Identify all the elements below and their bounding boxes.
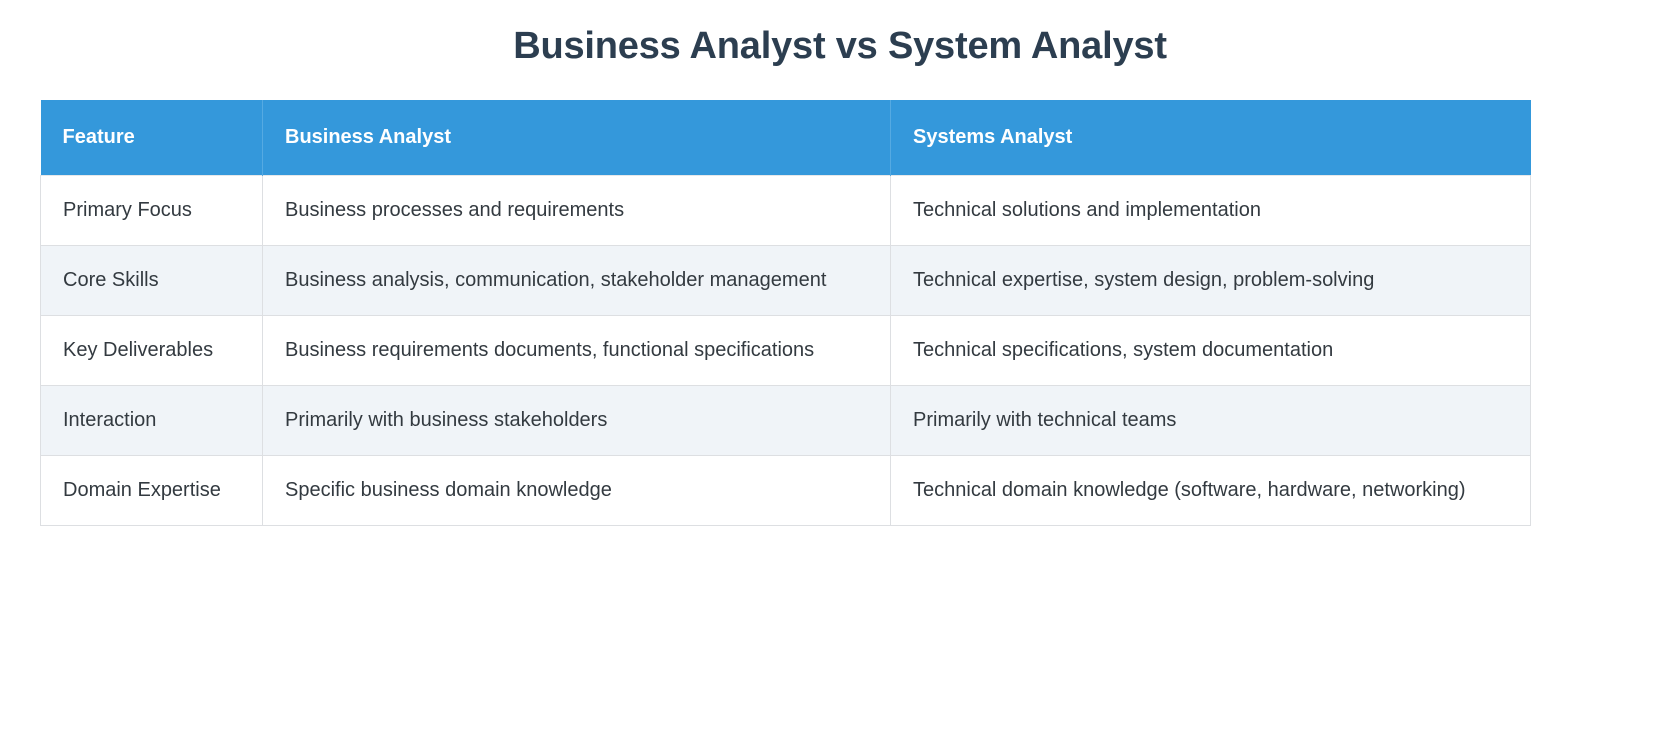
column-header-systems-analyst: Systems Analyst (891, 100, 1531, 176)
table-header-row: Feature Business Analyst Systems Analyst (41, 100, 1531, 176)
comparison-table-container: Feature Business Analyst Systems Analyst… (40, 100, 1530, 526)
cell-business-analyst: Primarily with business stakeholders (263, 386, 891, 456)
cell-feature: Primary Focus (41, 176, 263, 246)
table-row: Interaction Primarily with business stak… (41, 386, 1531, 456)
cell-feature: Domain Expertise (41, 456, 263, 526)
cell-feature: Core Skills (41, 246, 263, 316)
cell-business-analyst: Specific business domain knowledge (263, 456, 891, 526)
table-row: Domain Expertise Specific business domai… (41, 456, 1531, 526)
table-row: Primary Focus Business processes and req… (41, 176, 1531, 246)
table-body: Primary Focus Business processes and req… (41, 176, 1531, 526)
column-header-feature: Feature (41, 100, 263, 176)
cell-business-analyst: Business analysis, communication, stakeh… (263, 246, 891, 316)
comparison-table-page: Business Analyst vs System Analyst Featu… (0, 0, 1680, 736)
cell-feature: Key Deliverables (41, 316, 263, 386)
cell-feature: Interaction (41, 386, 263, 456)
cell-systems-analyst: Technical expertise, system design, prob… (891, 246, 1531, 316)
page-title: Business Analyst vs System Analyst (0, 24, 1680, 70)
cell-systems-analyst: Technical specifications, system documen… (891, 316, 1531, 386)
cell-business-analyst: Business requirements documents, functio… (263, 316, 891, 386)
table-row: Key Deliverables Business requirements d… (41, 316, 1531, 386)
comparison-table: Feature Business Analyst Systems Analyst… (40, 100, 1531, 526)
cell-systems-analyst: Technical solutions and implementation (891, 176, 1531, 246)
cell-business-analyst: Business processes and requirements (263, 176, 891, 246)
table-row: Core Skills Business analysis, communica… (41, 246, 1531, 316)
table-header: Feature Business Analyst Systems Analyst (41, 100, 1531, 176)
column-header-business-analyst: Business Analyst (263, 100, 891, 176)
cell-systems-analyst: Primarily with technical teams (891, 386, 1531, 456)
cell-systems-analyst: Technical domain knowledge (software, ha… (891, 456, 1531, 526)
